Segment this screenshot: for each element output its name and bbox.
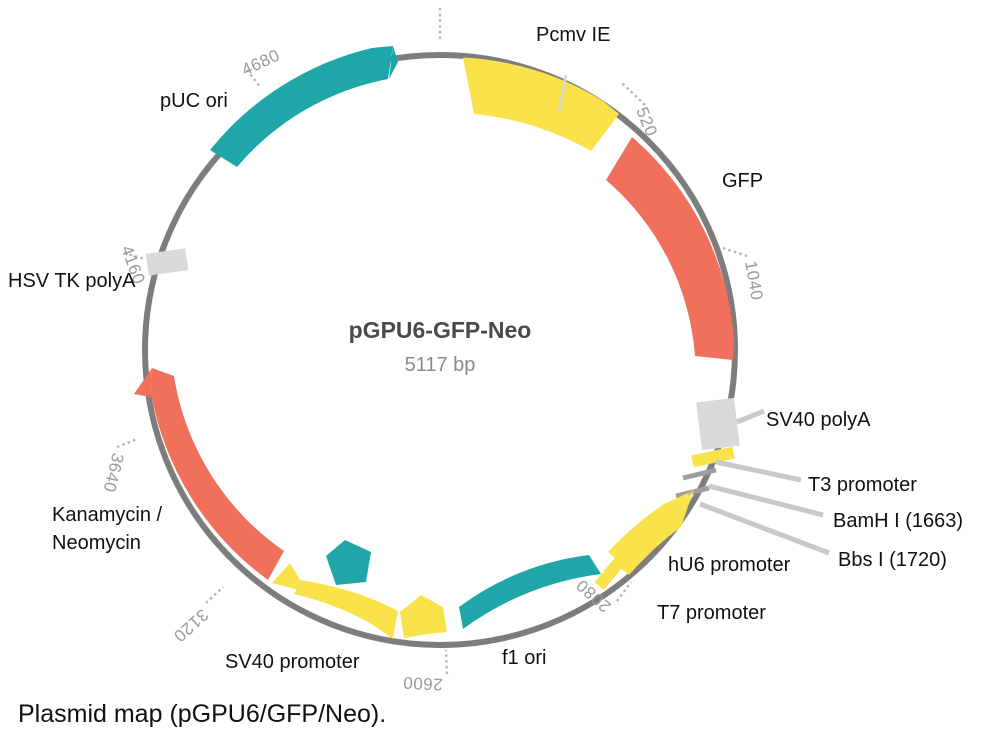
plasmid-size: 5117 bp bbox=[405, 354, 476, 376]
label-hsv-tk-polya: HSV TK polyA bbox=[8, 270, 136, 292]
plasmid-diagram: 520 1040 2080 2600 3120 3640 4160 4680 P… bbox=[0, 0, 982, 700]
figure-caption: Plasmid map (pGPU6/GFP/Neo). bbox=[18, 700, 386, 729]
label-pcmv-ie: Pcmv IE bbox=[536, 24, 610, 46]
label-sv40-polya: SV40 polyA bbox=[766, 409, 871, 431]
tick-label-2600: 2600 bbox=[402, 673, 443, 694]
label-sv40-promoter: SV40 promoter bbox=[225, 651, 360, 673]
label-puc-ori: pUC ori bbox=[160, 90, 228, 112]
label-t3-promoter: T3 promoter bbox=[808, 474, 917, 496]
restriction-site-ticks bbox=[676, 470, 716, 496]
feature-teal-pentagon[interactable] bbox=[326, 540, 371, 585]
tick-label-3120: 3120 bbox=[170, 605, 212, 646]
feature-kanamycin-neomycin[interactable] bbox=[134, 368, 284, 580]
label-bamhi-site: BamH I (1663) bbox=[833, 510, 963, 532]
feature-small-yellow-arrow[interactable] bbox=[400, 595, 447, 638]
tick-label-1040: 1040 bbox=[741, 259, 767, 302]
label-bbsi-site: Bbs I (1720) bbox=[838, 549, 947, 571]
plasmid-name: pGPU6-GFP-Neo bbox=[349, 317, 532, 343]
tick-label-4680: 4680 bbox=[239, 46, 283, 80]
label-hu6-promoter: hU6 promoter bbox=[668, 554, 791, 576]
label-t7-promoter: T7 promoter bbox=[657, 602, 766, 624]
tick-label-3640: 3640 bbox=[99, 451, 127, 494]
feature-sv40-polya[interactable] bbox=[696, 398, 740, 450]
feature-puc-ori[interactable] bbox=[210, 46, 398, 167]
label-kanamycin-line2: Neomycin bbox=[52, 532, 141, 554]
label-kanamycin-line1: Kanamycin / bbox=[52, 504, 162, 526]
feature-hsv-tk-polya[interactable] bbox=[146, 248, 189, 275]
label-f1-ori: f1 ori bbox=[502, 647, 546, 669]
plasmid-map-canvas: 520 1040 2080 2600 3120 3640 4160 4680 P… bbox=[0, 0, 982, 700]
label-gfp: GFP bbox=[722, 170, 763, 192]
